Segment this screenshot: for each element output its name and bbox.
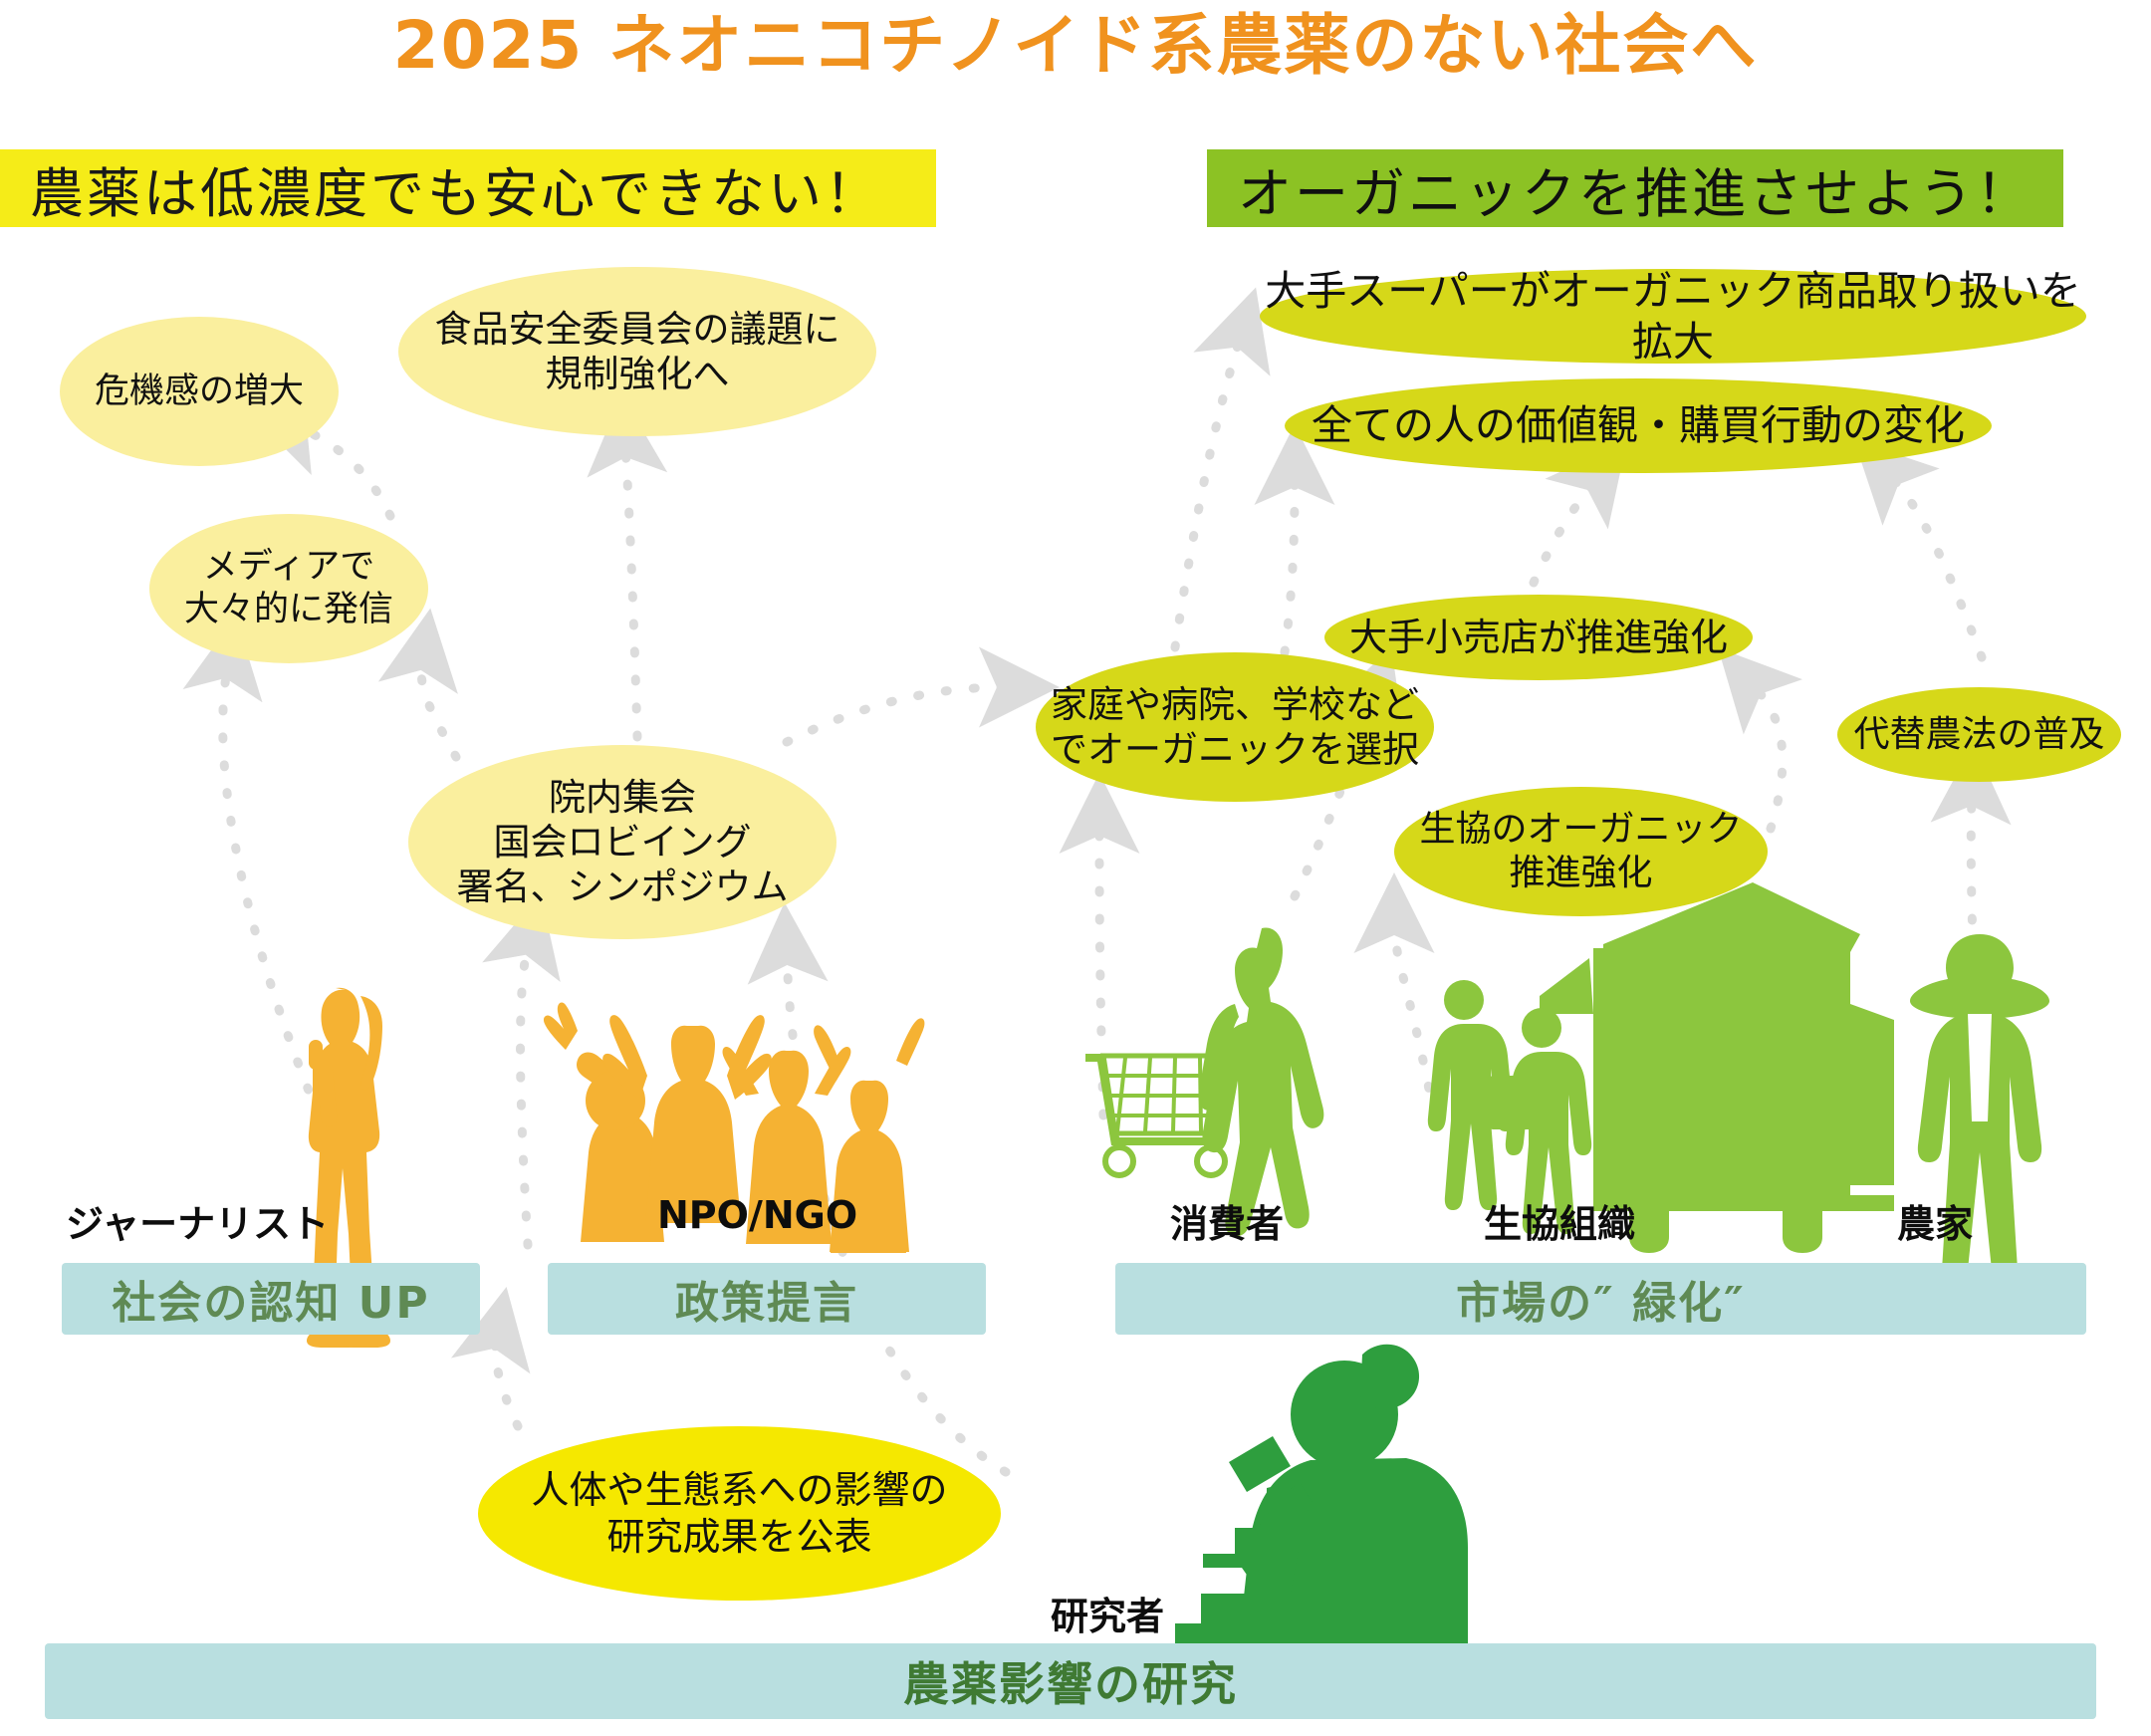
actor-label-coop: 生協組織 <box>1484 1193 1635 1248</box>
infographic-canvas: 2025 ネオニコチノイド系農薬のない社会へ 農薬は低濃度でも安心できない！ オ… <box>0 0 2151 1736</box>
rolebar-pesticide-research: 農薬影響の研究 <box>45 1643 2096 1719</box>
rolebar-market-greening: 市場の″ 緑化″ <box>1115 1263 2086 1335</box>
actor-label-consumer: 消費者 <box>1170 1193 1284 1248</box>
actor-label-farmer: 農家 <box>1897 1193 1973 1248</box>
rolebar-social-awareness: 社会の認知 UP <box>62 1263 480 1335</box>
actor-label-researcher: 研究者 <box>1051 1586 1164 1640</box>
rolebar-ninchi-text: 社会の認知 UP <box>112 1267 429 1331</box>
rolebar-seisaku-text: 政策提言 <box>675 1267 858 1331</box>
farmer-icon <box>1910 934 2049 1317</box>
figure-layer <box>0 0 2151 1736</box>
actor-label-journalist: ジャーナリスト <box>66 1193 329 1248</box>
consumer-icon <box>1085 927 1323 1307</box>
researcher-icon <box>1175 1345 1468 1659</box>
rolebar-ryokuka-text: 市場の″ 緑化″ <box>1456 1267 1746 1331</box>
rolebar-policy-advocacy: 政策提言 <box>548 1263 986 1335</box>
actor-label-npo: NPO/NGO <box>657 1193 857 1237</box>
rolebar-kenkyu-text: 農薬影響の研究 <box>903 1648 1238 1714</box>
